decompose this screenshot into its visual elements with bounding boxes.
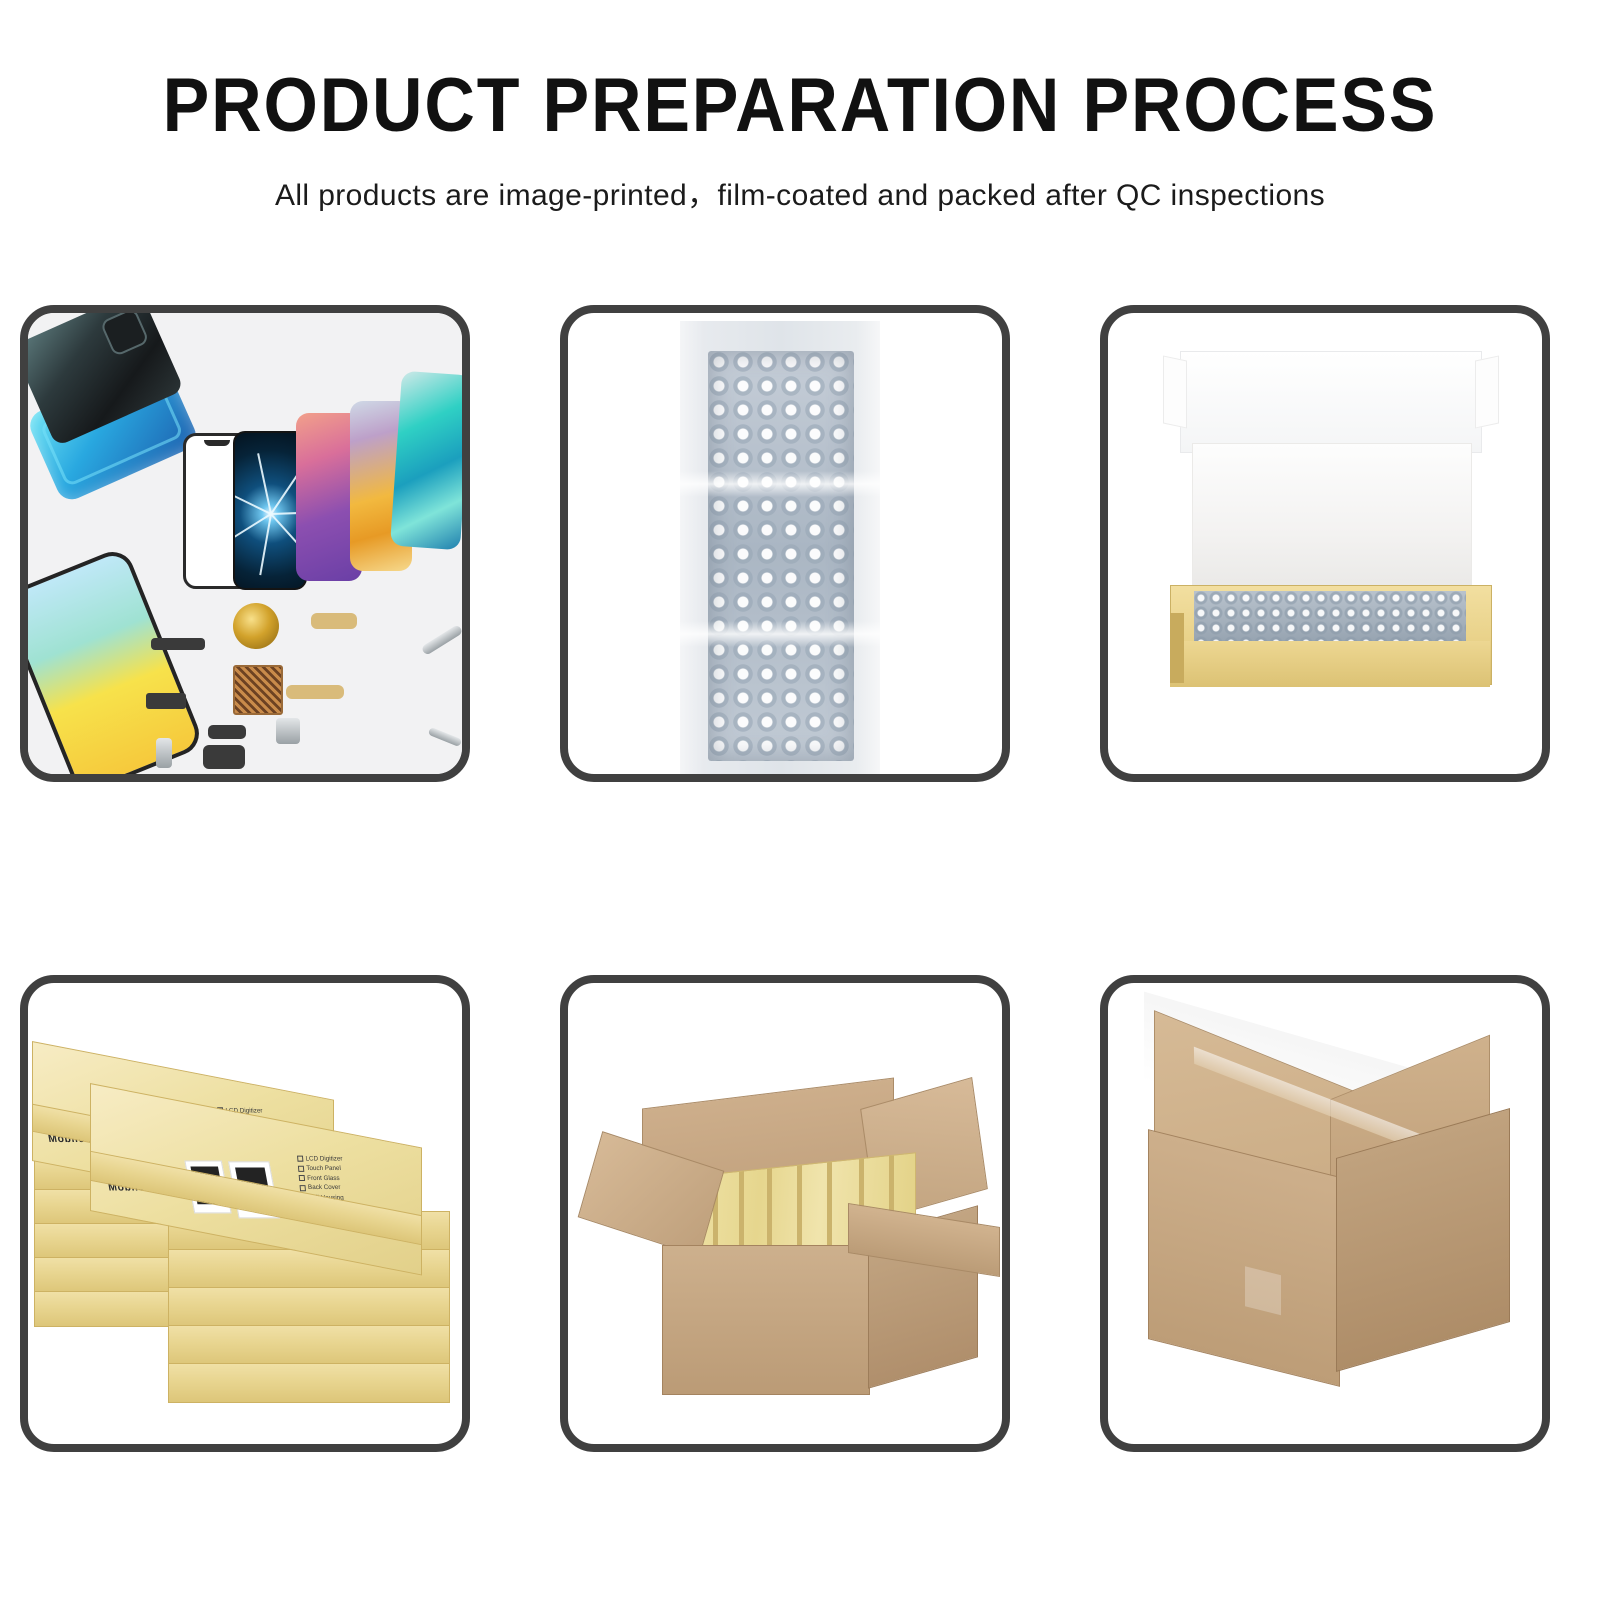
carton-seam-tab-2	[1245, 1422, 1281, 1452]
camera-module-icon	[100, 307, 150, 357]
loudspeaker-icon	[203, 745, 245, 769]
plastic-sheen	[680, 471, 880, 497]
process-step-panel-5[interactable]: V	[560, 975, 1010, 1452]
camera-sensor-icon	[276, 718, 300, 744]
process-step-panel-1[interactable]: I	[20, 305, 470, 782]
sim-tray-icon	[156, 738, 172, 768]
stacked-box-r3	[168, 1287, 450, 1327]
flex-cable-icon	[311, 613, 357, 629]
checklist-item: Back Cover	[299, 1184, 345, 1194]
volume-flex-icon	[286, 685, 344, 699]
plastic-sheen-2	[680, 621, 880, 647]
connector-icon	[146, 693, 186, 709]
teal-phone-icon	[390, 371, 470, 550]
box-lid	[1180, 351, 1482, 453]
bubble-wrapped-product	[1194, 591, 1466, 641]
checklist-item: Front Glass	[299, 1174, 345, 1184]
bubble-wrap-image	[568, 313, 1002, 774]
earpiece-mesh-icon	[151, 638, 205, 650]
process-step-panel-2[interactable]: II	[560, 305, 1010, 782]
carton-front-face	[662, 1245, 870, 1395]
sealed-carton-image	[1108, 983, 1542, 1444]
stacked-box-r5	[168, 1363, 450, 1403]
plastic-sleeve	[680, 321, 880, 782]
carton-seam-tab-1	[1245, 1266, 1281, 1315]
speaker-coil-icon	[233, 603, 279, 649]
gold-box-side-wall	[1170, 613, 1184, 683]
stacked-box-r4	[168, 1325, 450, 1365]
gold-box-front-wall	[1170, 641, 1490, 687]
process-step-panel-4[interactable]: Mobile Phone Spare Parts LCD Digitizer T…	[20, 975, 470, 1452]
process-step-grid: I II III	[0, 0, 1600, 1600]
foam-insert	[1192, 443, 1472, 595]
ic-chip-icon	[233, 665, 283, 715]
process-step-panel-3[interactable]: III	[1100, 305, 1550, 782]
process-step-panel-6[interactable]: VI	[1100, 975, 1550, 1452]
vibrator-icon	[208, 725, 246, 739]
open-carton-image	[568, 983, 1002, 1444]
phone-parts-collage-image	[28, 313, 462, 774]
open-gold-box-image	[1108, 313, 1542, 774]
checklist-item: LCD Digitizer	[297, 1155, 343, 1165]
checklist-item: Touch Panel	[298, 1164, 344, 1174]
retail-box-stack-image: Mobile Phone Spare Parts LCD Digitizer T…	[28, 983, 462, 1444]
bubble-wrap-texture	[708, 351, 854, 761]
